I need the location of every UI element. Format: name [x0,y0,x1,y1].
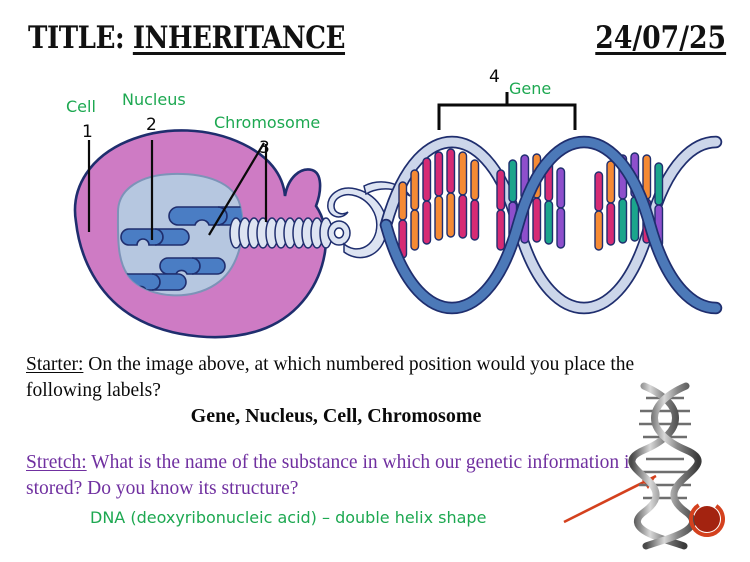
label-chromosome: Chromosome [214,113,320,132]
number-4: 4 [489,67,500,87]
label-cell: Cell [66,97,96,116]
number-3: 3 [259,138,270,158]
starter-label: Starter: [26,354,83,375]
starter-answer-words: Gene, Nucleus, Cell, Chromosome [26,405,646,428]
dna-answer-text: DNA (deoxyribonucleic acid) – double hel… [90,508,486,527]
stretch-label: Stretch: [26,452,87,473]
chromatin-coil [230,218,350,248]
stretch-question: What is the name of the substance in whi… [26,452,637,499]
dna-helix-icon [620,380,750,562]
dna-double-helix [386,142,716,308]
gene-bracket [439,92,575,130]
inheritance-diagram [0,0,750,350]
number-2: 2 [146,115,157,135]
starter-block: Starter: On the image above, at which nu… [26,352,686,403]
label-nucleus: Nucleus [122,90,186,109]
starter-question: On the image above, at which numbered po… [26,354,634,401]
label-gene: Gene [509,79,551,98]
slide-canvas: TITLE: INHERITANCE 24/07/25 [0,0,750,562]
number-1: 1 [82,122,93,142]
red-badge [685,497,730,542]
